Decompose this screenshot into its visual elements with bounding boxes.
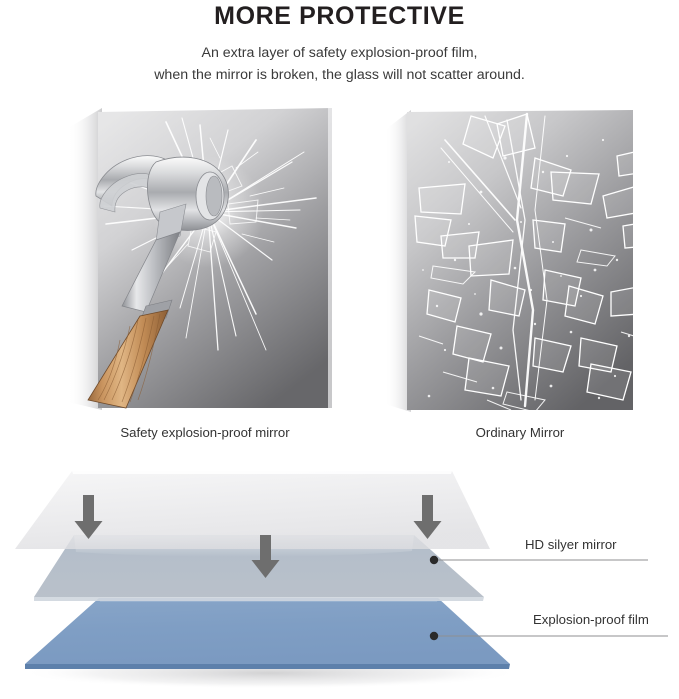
mirror-edge-highlight xyxy=(328,108,332,408)
panel-safety-mirror xyxy=(60,100,350,420)
page-subtitle: An extra layer of safety explosion-proof… xyxy=(0,31,679,86)
layer-diagram: HD silyer mirror Explosion-proof film xyxy=(0,455,679,699)
callout-dot-mirror xyxy=(430,556,438,564)
subtitle-line-1: An extra layer of safety explosion-proof… xyxy=(0,42,679,64)
subtitle-line-2: when the mirror is broken, the glass wil… xyxy=(0,64,679,86)
page-title: MORE PROTECTIVE xyxy=(0,0,679,31)
callout-mirror xyxy=(430,556,648,564)
panel-shadow xyxy=(68,108,102,410)
shattered-mirror-illustration xyxy=(385,100,655,420)
layer-stack-illustration xyxy=(0,455,679,699)
header: MORE PROTECTIVE An extra layer of safety… xyxy=(0,0,679,86)
panel-ordinary-mirror xyxy=(385,100,655,420)
caption-safety-mirror: Safety explosion-proof mirror xyxy=(60,425,350,440)
label-hd-silver-mirror: HD silyer mirror xyxy=(525,537,617,552)
hammer-striking-cracked-mirror-illustration xyxy=(60,100,350,420)
label-explosion-proof-film: Explosion-proof film xyxy=(533,612,649,627)
caption-ordinary-mirror: Ordinary Mirror xyxy=(385,425,655,440)
comparison-panels: Safety explosion-proof mirror Ordinary M… xyxy=(0,100,679,450)
callout-dot-film xyxy=(430,632,438,640)
